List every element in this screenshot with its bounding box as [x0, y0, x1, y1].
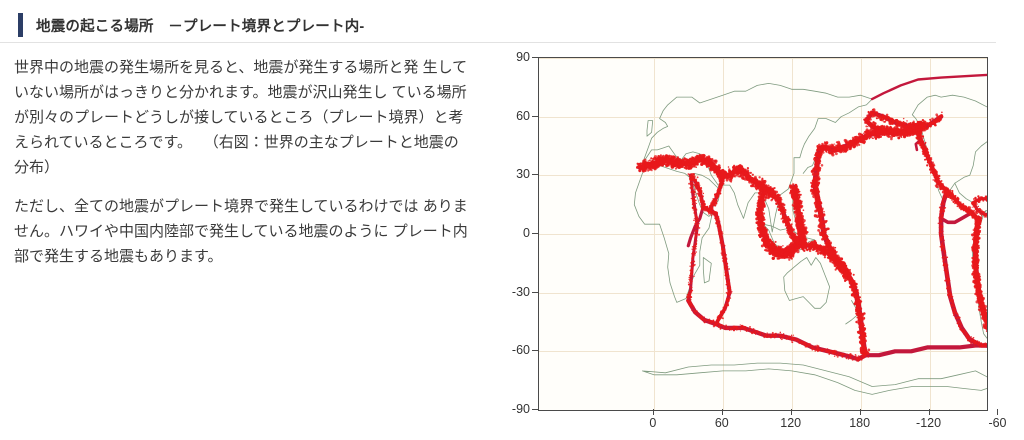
x-axis-tick-label: -60 — [988, 416, 1006, 430]
map-graphics — [539, 58, 987, 410]
x-axis-tick-mark — [997, 409, 998, 415]
paragraph-2: ただし、全ての地震がプレート境界で発生しているわけでは ありません。ハワイや中国… — [14, 194, 469, 269]
y-axis-tick-label: -90 — [490, 402, 530, 416]
x-axis-tick-mark — [929, 409, 930, 415]
x-axis-tick-label: 180 — [849, 416, 870, 430]
y-axis-tick-mark — [532, 233, 538, 234]
y-axis-tick-label: 0 — [490, 226, 530, 240]
y-axis-tick-mark — [532, 116, 538, 117]
plate-boundary-path — [865, 346, 987, 356]
earthquake-epicentre-layer — [636, 108, 987, 362]
page-title: 地震の起こる場所 －プレート境界とプレート内- — [36, 15, 364, 36]
x-axis-tick-mark — [653, 409, 654, 415]
x-axis-tick-label: -120 — [916, 416, 941, 430]
y-axis-tick-label: 60 — [490, 109, 530, 123]
world-plate-earthquake-map: 9060300-30-60-90060120180-120-60 — [500, 44, 1024, 440]
plate-boundary-path — [815, 125, 924, 356]
x-axis-tick-label: 60 — [715, 416, 729, 430]
y-axis-tick-label: -30 — [490, 285, 530, 299]
y-axis-tick-mark — [532, 174, 538, 175]
map-plot-area — [539, 58, 987, 410]
header-accent-bar — [18, 13, 23, 37]
coastline-path — [634, 164, 712, 303]
x-axis-tick-label: 0 — [649, 416, 656, 430]
x-axis-tick-label: 120 — [780, 416, 801, 430]
y-axis-tick-label: 30 — [490, 167, 530, 181]
page-root: 地震の起こる場所 －プレート境界とプレート内- 世界中の地震の発生場所を見ると、… — [0, 0, 1024, 440]
map-plot-frame — [538, 57, 988, 411]
paragraph-1: 世界中の地震の発生場所を見ると、地震が発生する場所と発 生していない場所がはっき… — [14, 55, 469, 180]
plate-boundary-path — [688, 301, 865, 360]
coastline-path — [647, 121, 653, 137]
x-axis-tick-mark — [860, 409, 861, 415]
plate-boundary-path — [941, 214, 969, 222]
y-axis-tick-mark — [532, 292, 538, 293]
grid-line-horizontal — [539, 410, 987, 411]
coastline-path — [703, 258, 711, 283]
y-axis-tick-mark — [532, 57, 538, 58]
article-text-column: 世界中の地震の発生場所を見ると、地震が発生する場所と発 生していない場所がはっき… — [14, 55, 469, 283]
y-axis-tick-label: -60 — [490, 343, 530, 357]
plate-boundary-path — [872, 72, 987, 99]
coastline-path — [642, 363, 987, 394]
x-axis-tick-mark — [791, 409, 792, 415]
x-axis-tick-mark — [722, 409, 723, 415]
coastline-path — [784, 258, 830, 309]
y-axis-tick-mark — [532, 409, 538, 410]
section-header: 地震の起こる場所 －プレート境界とプレート内- — [0, 8, 996, 43]
y-axis-tick-label: 90 — [490, 50, 530, 64]
y-axis-tick-mark — [532, 350, 538, 351]
